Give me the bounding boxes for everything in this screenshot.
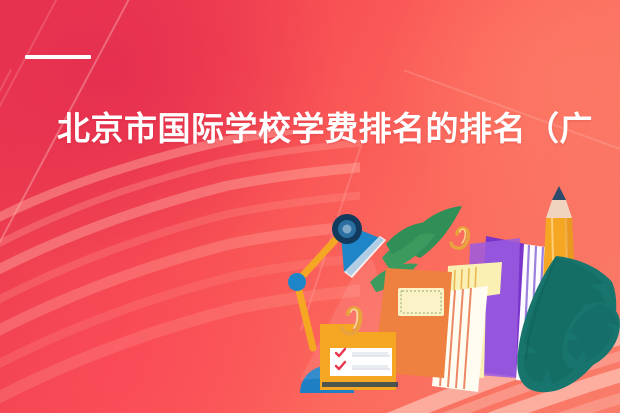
diagonal-streak-3 bbox=[0, 69, 12, 273]
lamp-arm-upper bbox=[297, 238, 337, 282]
leaf-teal-small bbox=[562, 302, 620, 369]
book-pages-striped-right bbox=[516, 244, 566, 384]
page-title: 北京市国际学校学费排名的排名（广 bbox=[57, 108, 620, 150]
diagonal-streak-6 bbox=[300, 140, 364, 331]
desk-lamp bbox=[288, 214, 386, 393]
notebook-label-border bbox=[401, 291, 441, 313]
lamp-beam bbox=[300, 258, 410, 380]
leaf-green bbox=[370, 206, 462, 292]
lamp-hub-core bbox=[343, 225, 352, 234]
stationery-illustration bbox=[0, 0, 620, 413]
notebook-violet bbox=[466, 238, 520, 378]
paperclip-orange bbox=[451, 228, 468, 248]
pencil-tip bbox=[552, 186, 566, 200]
paperclip-gold bbox=[342, 308, 360, 334]
diagonal-streak-2 bbox=[0, 0, 60, 216]
leaf-teal-large bbox=[517, 256, 616, 392]
lamp-arm-lower bbox=[297, 282, 313, 348]
lamp-light-edge bbox=[344, 236, 386, 278]
checklist-paper bbox=[330, 348, 392, 376]
paper-yellow bbox=[444, 262, 502, 378]
background-tint-bottom-left bbox=[0, 210, 330, 413]
lamp-hub-inner bbox=[338, 220, 356, 238]
pencil-body bbox=[542, 218, 576, 300]
clipboard-shadow-bar bbox=[322, 382, 398, 387]
lamp-base bbox=[300, 366, 354, 393]
book-pages-striped-center bbox=[432, 286, 488, 392]
lamp-shade bbox=[340, 222, 380, 272]
check-marks bbox=[336, 349, 345, 369]
clipboard bbox=[320, 308, 398, 390]
lamp-hub bbox=[332, 214, 362, 244]
notebook-label bbox=[398, 288, 444, 316]
notebook-orange bbox=[374, 268, 452, 378]
lamp-joint bbox=[288, 273, 306, 291]
pencil bbox=[542, 186, 576, 300]
wave-bands-left bbox=[0, 130, 360, 413]
decorative-dash bbox=[25, 55, 91, 59]
checklist-lines bbox=[352, 352, 390, 369]
pencil-wood bbox=[546, 200, 572, 218]
banner-canvas: 北京市国际学校学费排名的排名（广 bbox=[0, 0, 620, 413]
wave-bands-bottom-right bbox=[330, 300, 620, 413]
notebook-purple bbox=[478, 236, 565, 382]
